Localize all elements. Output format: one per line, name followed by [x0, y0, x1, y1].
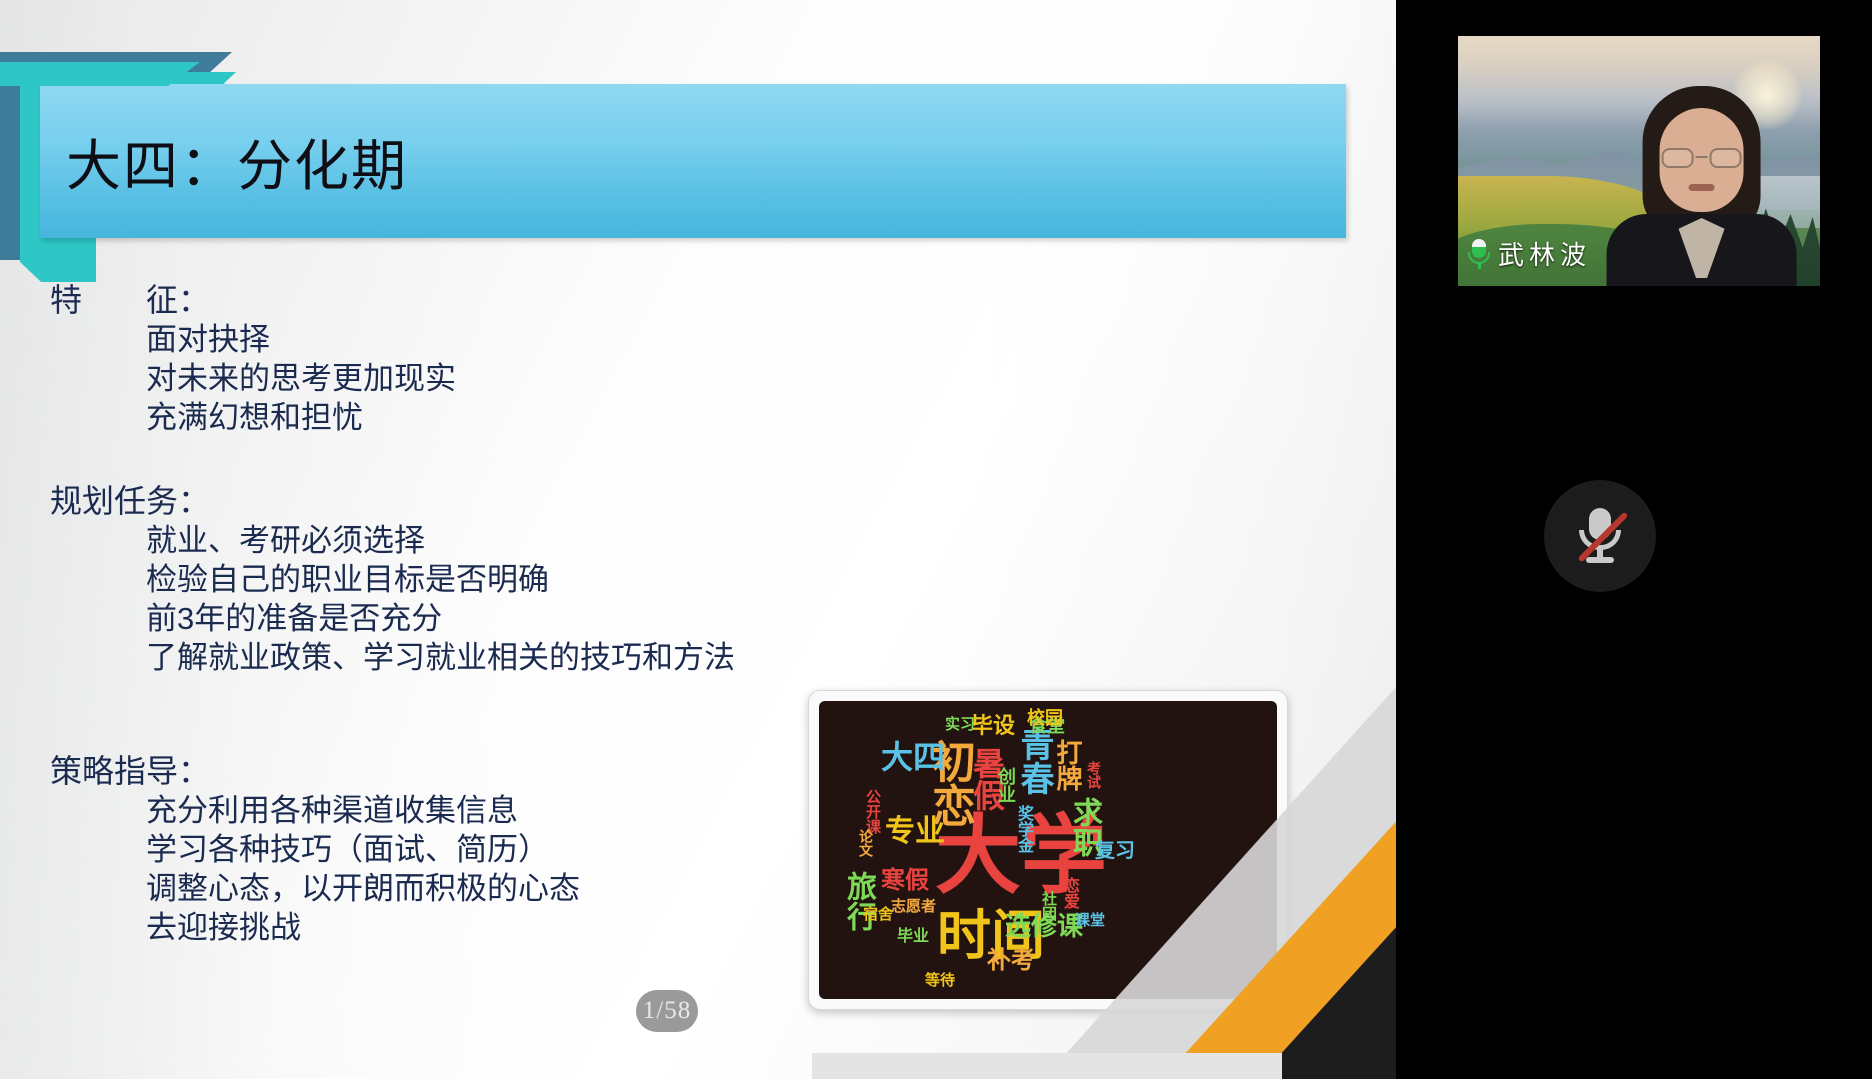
word-cloud-word: 课堂 — [1075, 913, 1105, 928]
word-cloud-word: 复习 — [1095, 841, 1135, 861]
word-cloud-word: 补考 — [987, 949, 1035, 973]
microphone-muted-icon — [1574, 506, 1626, 566]
bullet-line: 前3年的准备是否充分 — [146, 599, 1046, 638]
presentation-slide: 大四：分化期 特 征： 面对抉择 对未来的思考更加现实 充满幻想和担忧 规划任务… — [0, 0, 1396, 1079]
lens-right — [1710, 148, 1742, 168]
title-bar-flag — [0, 62, 200, 86]
bullet-line: 检验自己的职业目标是否明确 — [146, 560, 1046, 599]
bullet-line: 了解就业政策、学习就业相关的技巧和方法 — [146, 638, 1046, 677]
word-cloud-word: 考试 — [1087, 761, 1101, 789]
section-lines: 面对抉择 对未来的思考更加现实 充满幻想和担忧 — [146, 320, 1046, 437]
word-cloud-word: 寒假 — [881, 869, 929, 893]
word-cloud-word: 大四 — [881, 741, 945, 773]
lens-left — [1662, 148, 1694, 168]
word-cloud-word: 公开课 — [865, 789, 880, 834]
word-cloud-word: 创业 — [997, 767, 1015, 803]
word-cloud-word: 志愿者 — [891, 899, 936, 914]
bullet-line: 就业、考研必须选择 — [146, 521, 1046, 560]
bullet-line: 充满幻想和担忧 — [146, 398, 1046, 437]
section-characteristics: 特 征： 面对抉择 对未来的思考更加现实 充满幻想和担忧 — [46, 280, 1046, 437]
participant-video-tile[interactable]: 武林波 — [1458, 36, 1820, 286]
word-cloud-word: 毕设 — [971, 715, 1015, 737]
lens-bridge — [1696, 156, 1708, 158]
video-panel: 武林波 — [1396, 0, 1872, 1079]
mouth — [1689, 184, 1715, 191]
word-cloud-word: 社团 — [1041, 891, 1056, 921]
word-cloud-word: 论文 — [859, 829, 873, 857]
bullet-line: 对未来的思考更加现实 — [146, 359, 1046, 398]
screen-root: 大四：分化期 特 征： 面对抉择 对未来的思考更加现实 充满幻想和担忧 规划任务… — [0, 0, 1872, 1079]
section-lines: 就业、考研必须选择 检验自己的职业目标是否明确 前3年的准备是否充分 了解就业政… — [146, 521, 1046, 677]
slide-title: 大四：分化期 — [66, 121, 408, 201]
section-planning-tasks: 规划任务： 就业、考研必须选择 检验自己的职业目标是否明确 前3年的准备是否充分… — [46, 481, 1046, 677]
word-cloud-word: 青春 — [1017, 727, 1051, 795]
microphone-icon — [1468, 239, 1490, 269]
word-cloud-word: 恋爱 — [1061, 877, 1077, 909]
section-gap — [46, 437, 1046, 481]
slide-title-bar: 大四：分化期 — [40, 84, 1346, 238]
participant-name-badge: 武林波 — [1468, 235, 1591, 272]
word-cloud-word: 奖学金 — [1015, 805, 1031, 853]
bottom-strip — [812, 1053, 1282, 1079]
word-cloud-word: 实习 — [945, 717, 975, 732]
mute-status-button[interactable] — [1544, 480, 1656, 592]
section-heading: 规划任务： — [50, 481, 1046, 521]
bullet-line: 面对抉择 — [146, 320, 1046, 359]
word-cloud-word: 毕业 — [897, 929, 929, 945]
page-number-badge: 1/58 — [636, 990, 698, 1032]
word-cloud-word: 打牌 — [1055, 739, 1081, 791]
section-heading: 特 征： — [50, 280, 1046, 320]
word-cloud-word: 等待 — [925, 973, 955, 988]
glasses-icon — [1662, 148, 1742, 168]
word-cloud-word: 专业 — [885, 817, 945, 847]
word-cloud-word: 校园 — [1027, 709, 1063, 727]
participant-figure — [1610, 86, 1794, 286]
word-cloud-word: 宿舍 — [863, 907, 893, 922]
participant-name: 武林波 — [1498, 235, 1591, 272]
